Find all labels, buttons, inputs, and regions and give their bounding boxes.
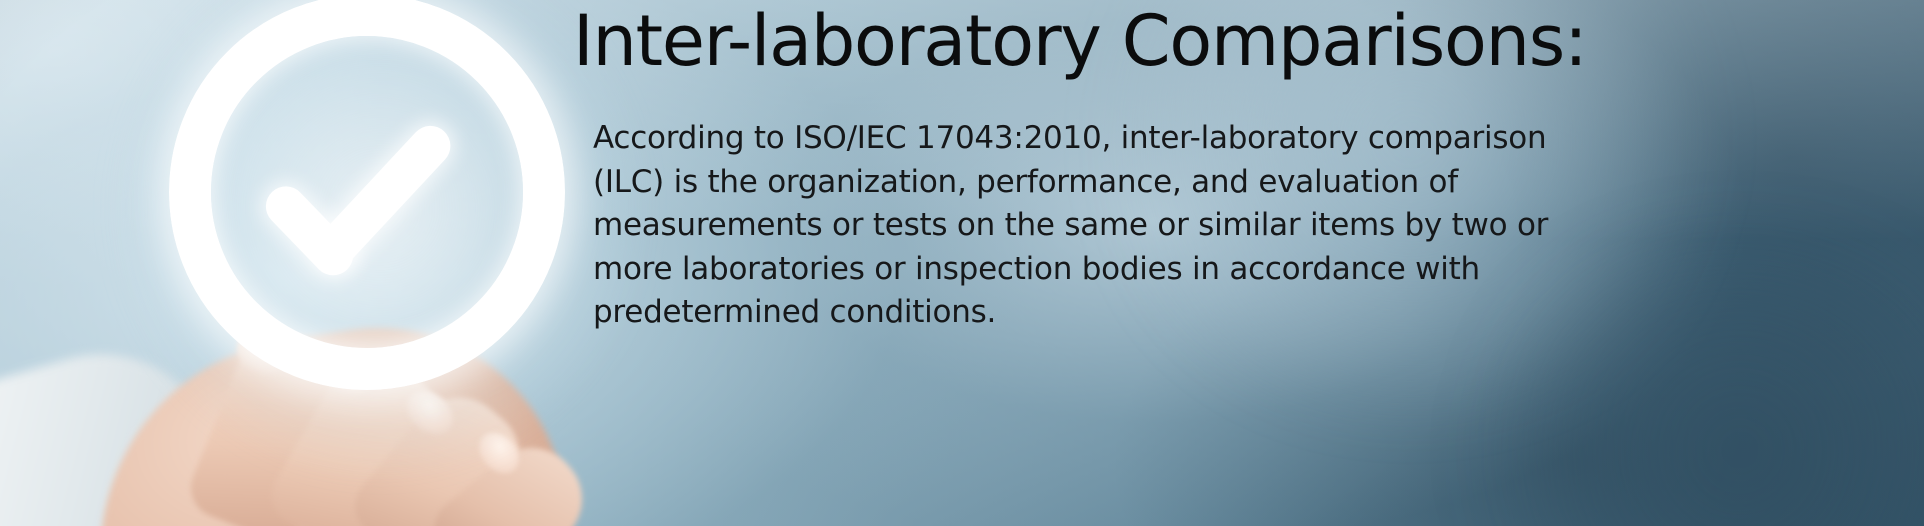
text-column: Inter-laboratory Comparisons: According … (573, 0, 1924, 526)
checkmark-icon (268, 128, 468, 232)
banner-body-text: According to ISO/IEC 17043:2010, inter-l… (593, 117, 1593, 335)
banner-title: Inter-laboratory Comparisons: (573, 0, 1586, 84)
inter-laboratory-comparisons-banner: Inter-laboratory Comparisons: According … (0, 0, 1924, 526)
